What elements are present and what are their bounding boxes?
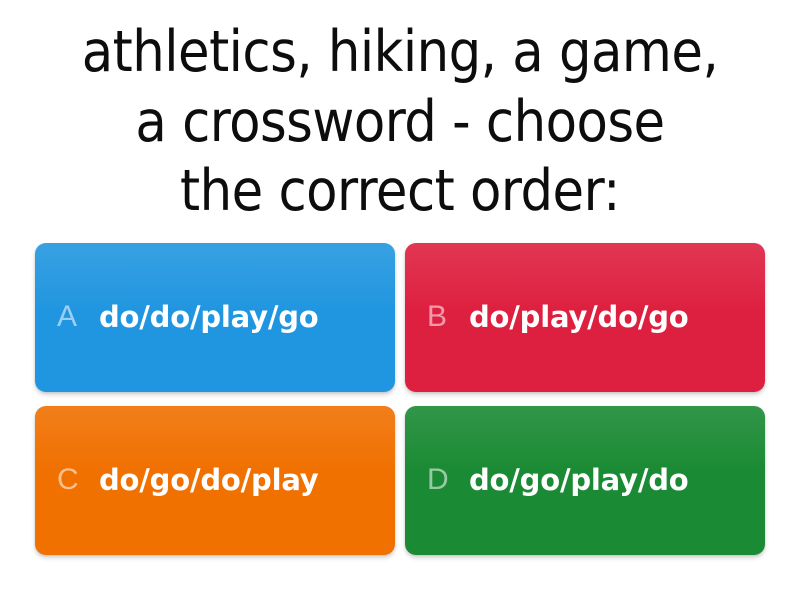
answer-letter-b: B: [427, 302, 469, 332]
answer-option-a[interactable]: A do/do/play/go: [35, 243, 395, 392]
question-text: athletics, hiking, a game, a crossword -…: [18, 18, 782, 227]
answer-text-b: do/play/do/go: [469, 301, 689, 334]
answer-option-d[interactable]: D do/go/play/do: [405, 406, 765, 555]
quiz-screen: athletics, hiking, a game, a crossword -…: [0, 0, 800, 600]
answer-options-grid: A do/do/play/go B do/play/do/go C do/go/…: [0, 227, 800, 600]
answer-letter-c: C: [57, 465, 99, 495]
answer-text-c: do/go/do/play: [99, 464, 319, 497]
answer-letter-a: A: [57, 302, 99, 332]
answer-text-a: do/do/play/go: [99, 301, 319, 334]
answer-letter-d: D: [427, 465, 469, 495]
answer-text-d: do/go/play/do: [469, 464, 689, 497]
answer-option-c[interactable]: C do/go/do/play: [35, 406, 395, 555]
question-area: athletics, hiking, a game, a crossword -…: [0, 0, 800, 227]
answer-option-b[interactable]: B do/play/do/go: [405, 243, 765, 392]
